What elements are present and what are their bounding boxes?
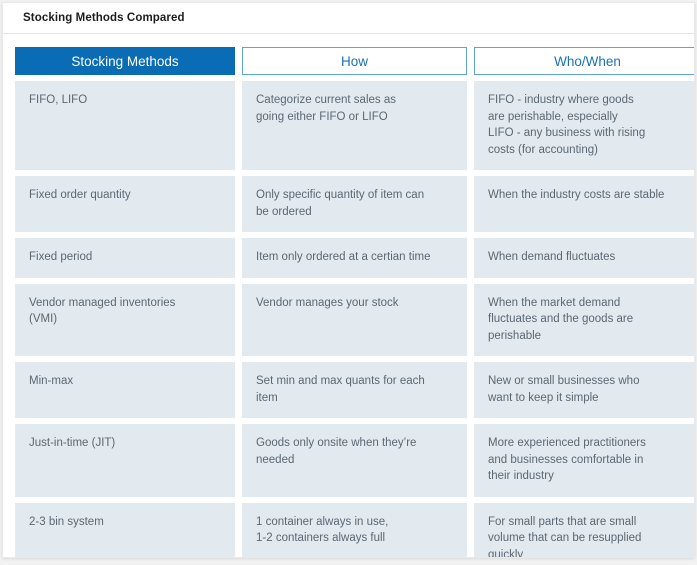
cell-method: Min-max xyxy=(15,362,235,418)
cell-how: Item only ordered at a certian time xyxy=(242,238,467,278)
cell-method: Fixed order quantity xyxy=(15,176,235,232)
cell-who-when: More experienced practitionersand busine… xyxy=(474,424,695,497)
table-row: Fixed period Item only ordered at a cert… xyxy=(15,238,695,278)
cell-who-when: For small parts that are smallvolume tha… xyxy=(474,503,695,559)
cell-how: Goods only onsite when they’reneeded xyxy=(242,424,467,497)
cell-text-line: fluctuates and the goods are xyxy=(488,311,687,328)
cell-text-line: Fixed period xyxy=(29,249,221,266)
cell-text-line: Vendor manages your stock xyxy=(256,295,453,312)
cell-text-line: be ordered xyxy=(256,204,453,221)
cell-text-line: want to keep it simple xyxy=(488,390,687,407)
cell-text-line: their industry xyxy=(488,468,687,485)
cell-text-line: Vendor managed inventories xyxy=(29,295,221,312)
cell-text-line: Just-in-time (JIT) xyxy=(29,435,221,452)
cell-who-when: When demand fluctuates xyxy=(474,238,695,278)
table-header: Stocking Methods How Who/When xyxy=(15,47,695,75)
cell-how: 1 container always in use,1-2 containers… xyxy=(242,503,467,559)
cell-text-line: When demand fluctuates xyxy=(488,249,687,266)
cell-who-when: New or small businesses whowant to keep … xyxy=(474,362,695,418)
cell-text-line: needed xyxy=(256,452,453,469)
cell-text-line: For small parts that are small xyxy=(488,514,687,531)
cell-how: Vendor manages your stock xyxy=(242,284,467,357)
cell-method: FIFO, LIFO xyxy=(15,81,235,170)
cell-how: Set min and max quants for eachitem xyxy=(242,362,467,418)
table-row: Vendor managed inventories(VMI) Vendor m… xyxy=(15,284,695,357)
cell-text-line: Min-max xyxy=(29,373,221,390)
cell-text-line: quickly xyxy=(488,547,687,559)
cell-method: Vendor managed inventories(VMI) xyxy=(15,284,235,357)
cell-text-line: volume that can be resupplied xyxy=(488,530,687,547)
cell-text-line: LIFO - any business with rising xyxy=(488,125,687,142)
cell-text-line: 1-2 containers always full xyxy=(256,530,453,547)
cell-text-line: More experienced practitioners xyxy=(488,435,687,452)
cell-text-line: Set min and max quants for each xyxy=(256,373,453,390)
cell-text-line: 1 container always in use, xyxy=(256,514,453,531)
cell-who-when: FIFO - industry where goodsare perishabl… xyxy=(474,81,695,170)
cell-text-line: Only specific quantity of item can xyxy=(256,187,453,204)
table-row: FIFO, LIFO Categorize current sales asgo… xyxy=(15,81,695,170)
cell-who-when: When the market demandfluctuates and the… xyxy=(474,284,695,357)
table-row: Just-in-time (JIT) Goods only onsite whe… xyxy=(15,424,695,497)
cell-how: Only specific quantity of item canbe ord… xyxy=(242,176,467,232)
cell-text-line: New or small businesses who xyxy=(488,373,687,390)
cell-text-line: perishable xyxy=(488,328,687,345)
cell-text-line: costs (for accounting) xyxy=(488,142,687,159)
cell-text-line: (VMI) xyxy=(29,311,221,328)
table-header-row: Stocking Methods How Who/When xyxy=(15,47,695,75)
table-body: FIFO, LIFO Categorize current sales asgo… xyxy=(15,81,695,558)
cell-text-line: FIFO - industry where goods xyxy=(488,92,687,109)
cell-text-line: going either FIFO or LIFO xyxy=(256,109,453,126)
cell-text-line: and businesses comfortable in xyxy=(488,452,687,469)
column-header-how[interactable]: How xyxy=(242,47,467,75)
cell-how: Categorize current sales asgoing either … xyxy=(242,81,467,170)
cell-text-line: 2-3 bin system xyxy=(29,514,221,531)
column-header-who-when[interactable]: Who/When xyxy=(474,47,695,75)
cell-text-line: Categorize current sales as xyxy=(256,92,453,109)
cell-method: 2-3 bin system xyxy=(15,503,235,559)
table-container: Stocking Methods How Who/When FIFO, LIFO… xyxy=(3,34,694,558)
column-header-stocking-methods[interactable]: Stocking Methods xyxy=(15,47,235,75)
card-header: Stocking Methods Compared xyxy=(3,3,694,34)
comparison-card: Stocking Methods Compared Stocking Metho… xyxy=(2,2,695,558)
page-title: Stocking Methods Compared xyxy=(23,12,185,24)
cell-text-line: Fixed order quantity xyxy=(29,187,221,204)
cell-text-line: FIFO, LIFO xyxy=(29,92,221,109)
cell-text-line: When the market demand xyxy=(488,295,687,312)
cell-text-line: are perishable, especially xyxy=(488,109,687,126)
table-row: Min-max Set min and max quants for eachi… xyxy=(15,362,695,418)
stocking-methods-table: Stocking Methods How Who/When FIFO, LIFO… xyxy=(8,41,695,558)
cell-text-line: item xyxy=(256,390,453,407)
cell-method: Fixed period xyxy=(15,238,235,278)
table-row: Fixed order quantity Only specific quant… xyxy=(15,176,695,232)
cell-text-line: Item only ordered at a certian time xyxy=(256,249,453,266)
table-row: 2-3 bin system 1 container always in use… xyxy=(15,503,695,559)
cell-who-when: When the industry costs are stable xyxy=(474,176,695,232)
cell-text-line: Goods only onsite when they’re xyxy=(256,435,453,452)
cell-method: Just-in-time (JIT) xyxy=(15,424,235,497)
cell-text-line: When the industry costs are stable xyxy=(488,187,687,204)
